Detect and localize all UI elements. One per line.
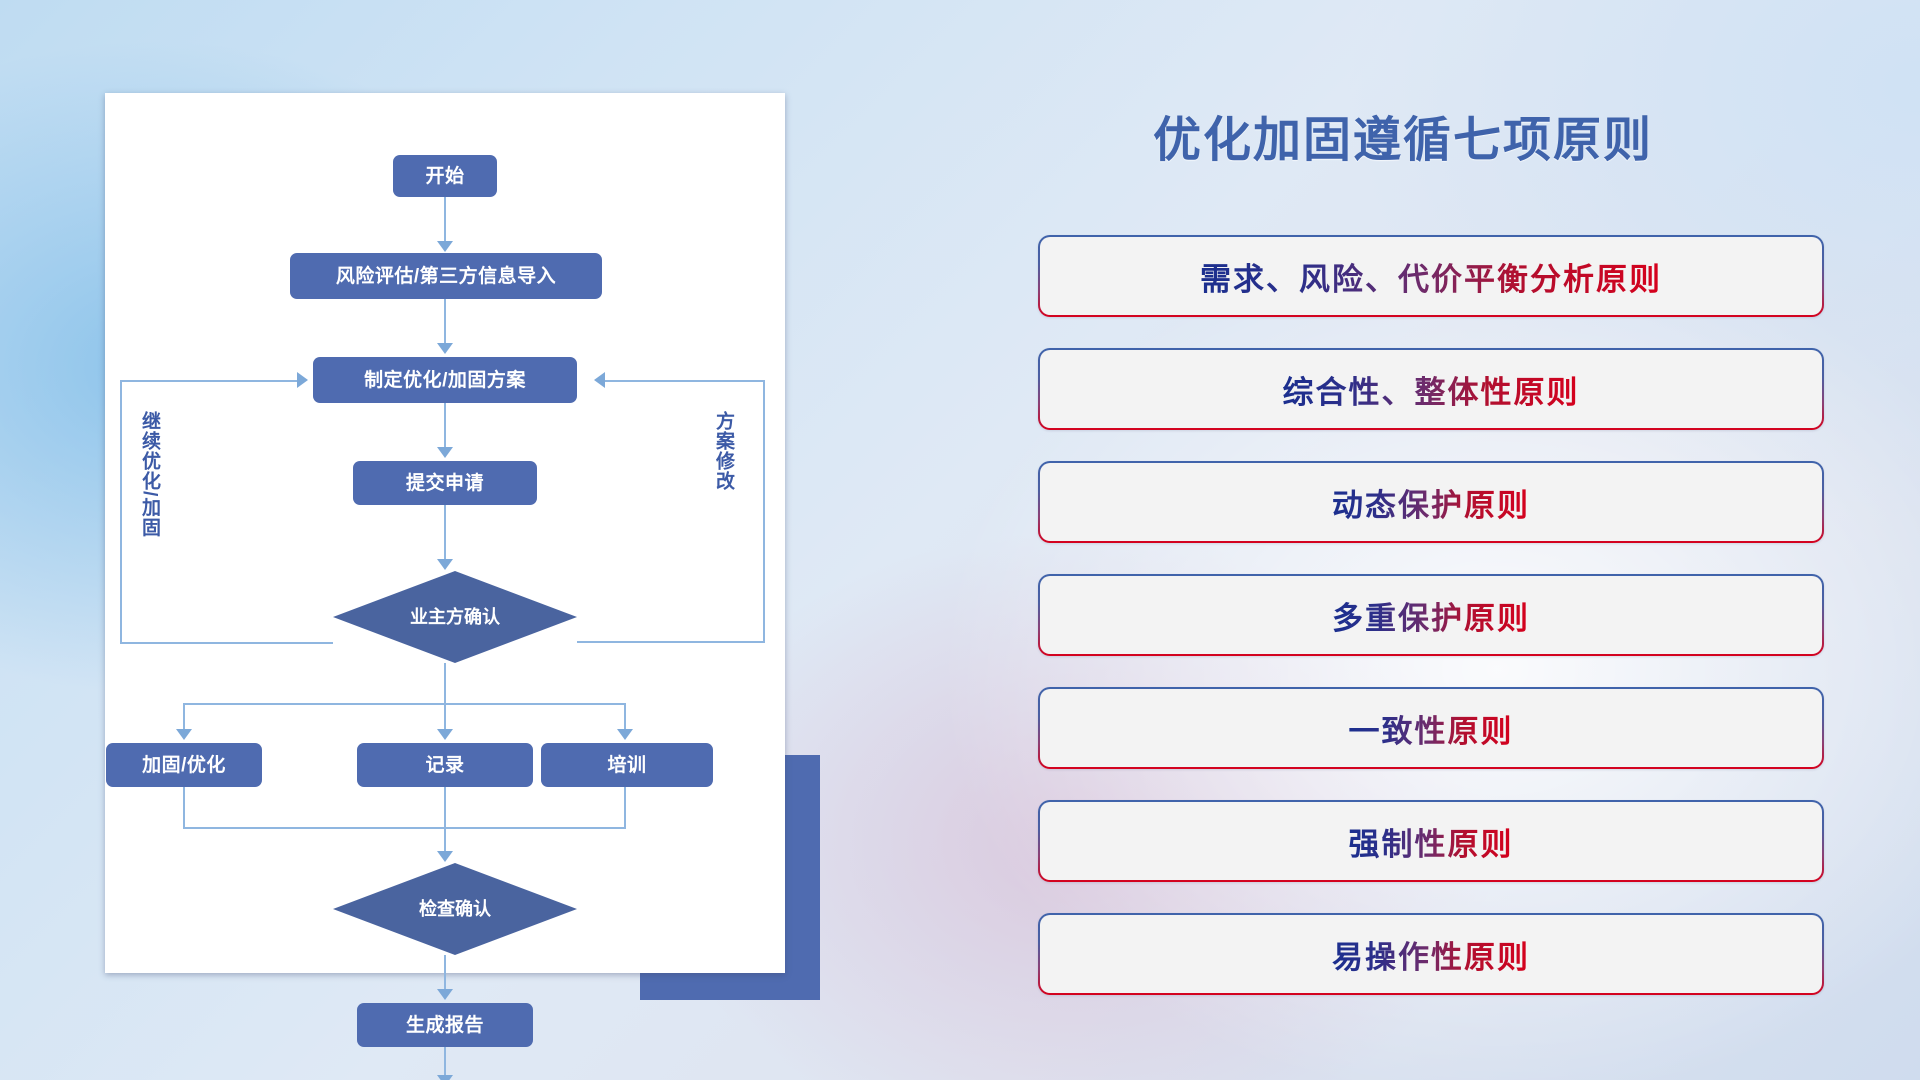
flow-node-generate-report[interactable]: 生成报告 (357, 1003, 533, 1047)
connector-owner-to-fanout (444, 663, 446, 705)
arrow-report-to-end (437, 1075, 453, 1080)
flow-edge-label-left-loop: 继续优化/加固 (139, 411, 159, 537)
connector-left-loop-vertical (120, 380, 122, 642)
arrow-to-record (437, 729, 453, 740)
principle-label: 多重保护原则 (1332, 593, 1530, 638)
principle-item-3[interactable]: 动态保护原则 (1038, 461, 1824, 543)
page-title: 优化加固遵循七项原则 (1153, 100, 1653, 170)
flow-node-label: 制定优化/加固方案 (364, 371, 526, 390)
principle-item-4[interactable]: 多重保护原则 (1038, 574, 1824, 656)
flow-node-label: 开始 (425, 167, 464, 186)
flow-node-label: 加固/优化 (142, 756, 226, 775)
connector-fanin-bar (183, 827, 625, 829)
flow-node-label: 风险评估/第三方信息导入 (336, 267, 556, 286)
arrow-right-loop-into-plan (594, 372, 605, 388)
connector-fanin-to-check (444, 787, 446, 855)
arrow-to-reinforce (176, 729, 192, 740)
slide-canvas: 开始 风险评估/第三方信息导入 制定优化/加固方案 继续优化/加固 (0, 0, 1920, 1080)
flow-node-reinforce-optimize[interactable]: 加固/优化 (106, 743, 262, 787)
flow-node-record[interactable]: 记录 (357, 743, 533, 787)
arrow-check-to-report (437, 989, 453, 1000)
flow-node-start[interactable]: 开始 (393, 155, 497, 197)
arrow-start-to-risk (437, 241, 453, 252)
principle-label: 一致性原则 (1349, 706, 1514, 751)
connector-fanin-right (624, 787, 626, 829)
flowchart-card: 开始 风险评估/第三方信息导入 制定优化/加固方案 继续优化/加固 (105, 93, 785, 973)
flow-node-label: 生成报告 (406, 1016, 484, 1035)
flow-edge-label-right-loop: 方案修改 (713, 411, 733, 491)
principle-label: 动态保护原则 (1332, 480, 1530, 525)
connector-fanin-left (183, 787, 185, 829)
principle-item-2[interactable]: 综合性、整体性原则 (1038, 348, 1824, 430)
arrow-risk-to-plan (437, 343, 453, 354)
connector-risk-to-plan (444, 299, 446, 347)
connector-right-loop-bottom (577, 641, 765, 643)
principle-label: 综合性、整体性原则 (1283, 367, 1580, 412)
connector-check-to-report (444, 955, 446, 993)
flow-node-make-plan[interactable]: 制定优化/加固方案 (313, 357, 577, 403)
principles-panel: 优化加固遵循七项原则 需求、风险、代价平衡分析原则 综合性、整体性原则 动态保护… (1020, 90, 1860, 1010)
connector-check-to-left-rail (120, 642, 333, 644)
principle-item-7[interactable]: 易操作性原则 (1038, 913, 1824, 995)
principle-label: 强制性原则 (1349, 819, 1514, 864)
flow-node-training[interactable]: 培训 (541, 743, 713, 787)
arrow-to-training (617, 729, 633, 740)
connector-left-loop-top (120, 380, 299, 382)
flow-decision-label: 检查确认 (419, 900, 491, 918)
flowchart-diagram: 开始 风险评估/第三方信息导入 制定优化/加固方案 继续优化/加固 (105, 93, 785, 973)
principle-label: 需求、风险、代价平衡分析原则 (1200, 254, 1662, 299)
connector-right-loop-top (605, 380, 765, 382)
flow-node-label: 记录 (425, 756, 464, 775)
arrow-submit-to-owner (437, 559, 453, 570)
principle-item-5[interactable]: 一致性原则 (1038, 687, 1824, 769)
connector-plan-to-submit (444, 403, 446, 451)
arrow-to-check (437, 851, 453, 862)
arrow-plan-to-submit (437, 447, 453, 458)
flow-node-label: 培训 (607, 756, 646, 775)
flow-node-risk-assessment[interactable]: 风险评估/第三方信息导入 (290, 253, 602, 299)
flow-node-submit-application[interactable]: 提交申请 (353, 461, 537, 505)
arrow-left-loop-into-plan (297, 372, 308, 388)
flow-decision-check-confirm[interactable]: 检查确认 (333, 863, 577, 955)
flow-decision-label: 业主方确认 (410, 608, 500, 626)
connector-submit-to-owner (444, 505, 446, 563)
principle-item-6[interactable]: 强制性原则 (1038, 800, 1824, 882)
flow-decision-owner-confirm[interactable]: 业主方确认 (333, 571, 577, 663)
flow-node-label: 提交申请 (406, 474, 484, 493)
connector-start-to-risk (444, 197, 446, 245)
principle-item-1[interactable]: 需求、风险、代价平衡分析原则 (1038, 235, 1824, 317)
connector-fanout-bar (183, 703, 625, 705)
principle-label: 易操作性原则 (1332, 932, 1530, 977)
connector-right-loop-vertical (763, 380, 765, 642)
